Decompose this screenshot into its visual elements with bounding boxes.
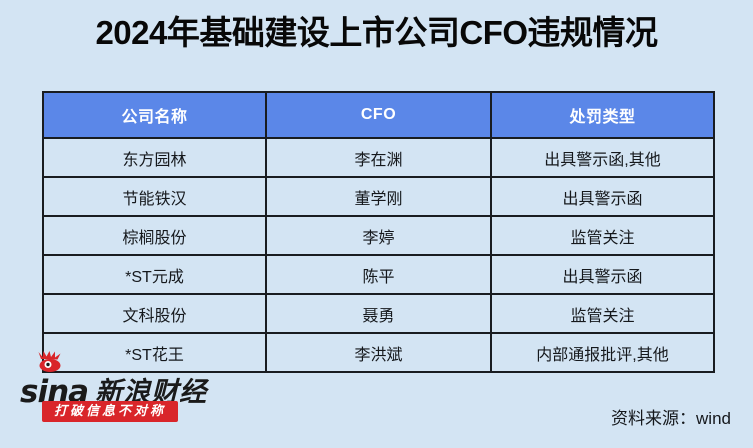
table-header-row: 公司名称 CFO 处罚类型 — [43, 92, 714, 138]
cell-penalty: 出具警示函,其他 — [491, 138, 714, 177]
table-row: 东方园林 李在渊 出具警示函,其他 — [43, 138, 714, 177]
cell-penalty: 监管关注 — [491, 294, 714, 333]
cell-cfo: 陈平 — [266, 255, 491, 294]
table-row: 棕榈股份 李婷 监管关注 — [43, 216, 714, 255]
column-header-penalty: 处罚类型 — [491, 92, 714, 138]
cell-cfo: 李婷 — [266, 216, 491, 255]
cell-cfo: 聂勇 — [266, 294, 491, 333]
table-row: 文科股份 聂勇 监管关注 — [43, 294, 714, 333]
cell-company: 东方园林 — [43, 138, 266, 177]
cell-penalty: 内部通报批评,其他 — [491, 333, 714, 372]
cell-penalty: 监管关注 — [491, 216, 714, 255]
cfo-violation-table: 公司名称 CFO 处罚类型 东方园林 李在渊 出具警示函,其他 节能铁汉 董学刚… — [42, 91, 715, 373]
table-row: *ST花王 李洪斌 内部通报批评,其他 — [43, 333, 714, 372]
sina-finance-logo: sina 新浪财经 打破信息不对称 — [20, 371, 250, 431]
logo-tagline: 打破信息不对称 — [42, 401, 178, 422]
cell-company: 棕榈股份 — [43, 216, 266, 255]
table-header: 公司名称 CFO 处罚类型 — [43, 92, 714, 138]
cell-cfo: 董学刚 — [266, 177, 491, 216]
cell-penalty: 出具警示函 — [491, 255, 714, 294]
cell-company: 文科股份 — [43, 294, 266, 333]
source-note: 资料来源：wind — [611, 404, 731, 429]
sina-eye-icon — [38, 351, 65, 373]
page-title: 2024年基础建设上市公司CFO违规情况 — [0, 12, 753, 54]
cell-cfo: 李在渊 — [266, 138, 491, 177]
table-body: 东方园林 李在渊 出具警示函,其他 节能铁汉 董学刚 出具警示函 棕榈股份 李婷… — [43, 138, 714, 372]
cell-company: *ST花王 — [43, 333, 266, 372]
cell-company: *ST元成 — [43, 255, 266, 294]
column-header-cfo: CFO — [266, 92, 491, 138]
cell-penalty: 出具警示函 — [491, 177, 714, 216]
column-header-company: 公司名称 — [43, 92, 266, 138]
table-row: 节能铁汉 董学刚 出具警示函 — [43, 177, 714, 216]
cell-cfo: 李洪斌 — [266, 333, 491, 372]
table-row: *ST元成 陈平 出具警示函 — [43, 255, 714, 294]
cell-company: 节能铁汉 — [43, 177, 266, 216]
